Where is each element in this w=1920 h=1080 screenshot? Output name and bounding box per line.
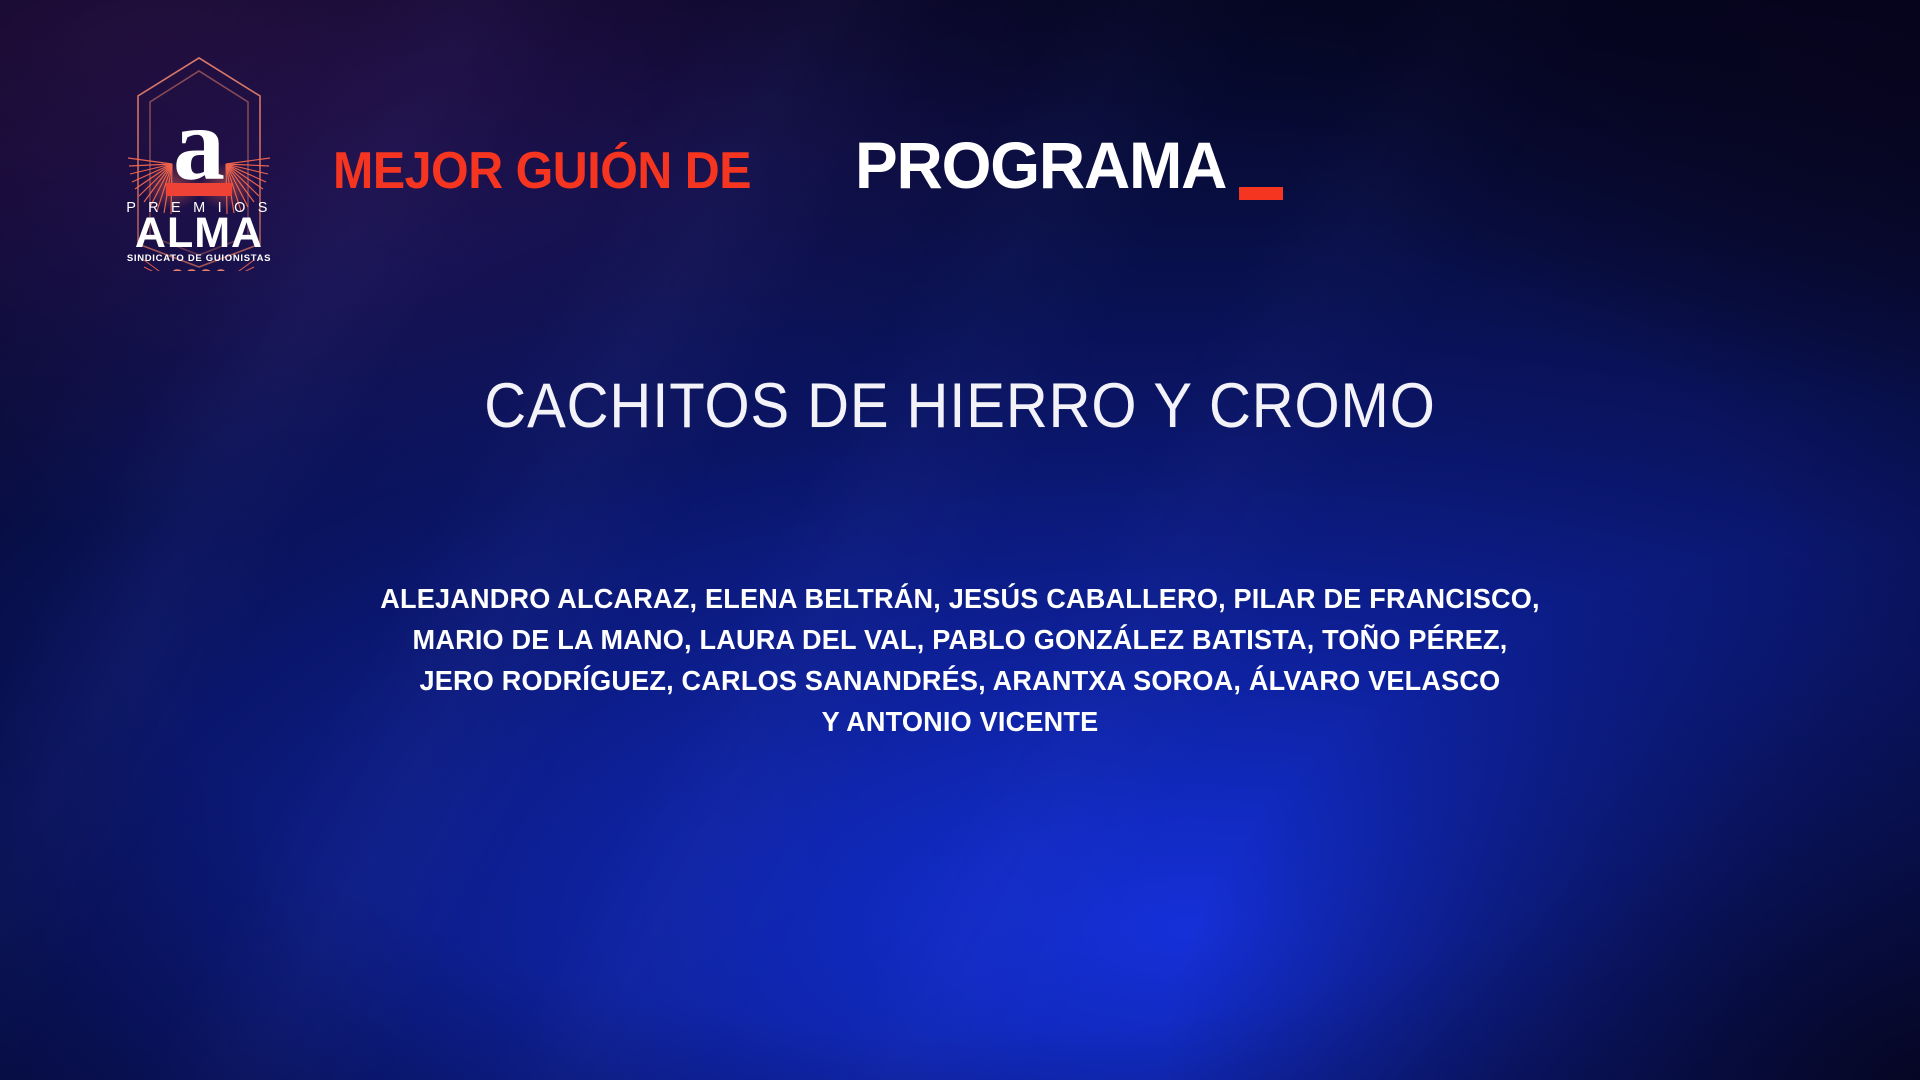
- premios-alma-logo: a P R E M I O S ALMA SINDICATO DE GUIONI…: [104, 36, 294, 271]
- category-name-wrap: PROGRAMA: [855, 132, 1238, 198]
- award-slide: a P R E M I O S ALMA SINDICATO DE GUIONI…: [0, 0, 1920, 1080]
- category-kicker: MEJOR GUIÓN DE: [333, 145, 751, 197]
- credits-line: JERO RODRÍGUEZ, CARLOS SANANDRÉS, ARANTX…: [14, 660, 1905, 701]
- underscore-accent: [1239, 187, 1283, 200]
- logo-year-text: 2026: [170, 265, 228, 271]
- credits-line: MARIO DE LA MANO, LAURA DEL VAL, PABLO G…: [14, 619, 1905, 660]
- logo-tagline-text: SINDICATO DE GUIONISTAS: [127, 253, 271, 264]
- category-name: PROGRAMA: [855, 132, 1226, 198]
- credits-line: ALEJANDRO ALCARAZ, ELENA BELTRÁN, JESÚS …: [14, 578, 1905, 619]
- winner-title: CACHITOS DE HIERRO Y CROMO: [77, 370, 1843, 442]
- logo-alma-text: ALMA: [135, 209, 263, 257]
- credits-block: ALEJANDRO ALCARAZ, ELENA BELTRÁN, JESÚS …: [0, 578, 1920, 742]
- credits-line: Y ANTONIO VICENTE: [14, 701, 1905, 742]
- category-header: MEJOR GUIÓN DE PROGRAMA: [333, 132, 1237, 198]
- logo-red-bar: [166, 183, 232, 196]
